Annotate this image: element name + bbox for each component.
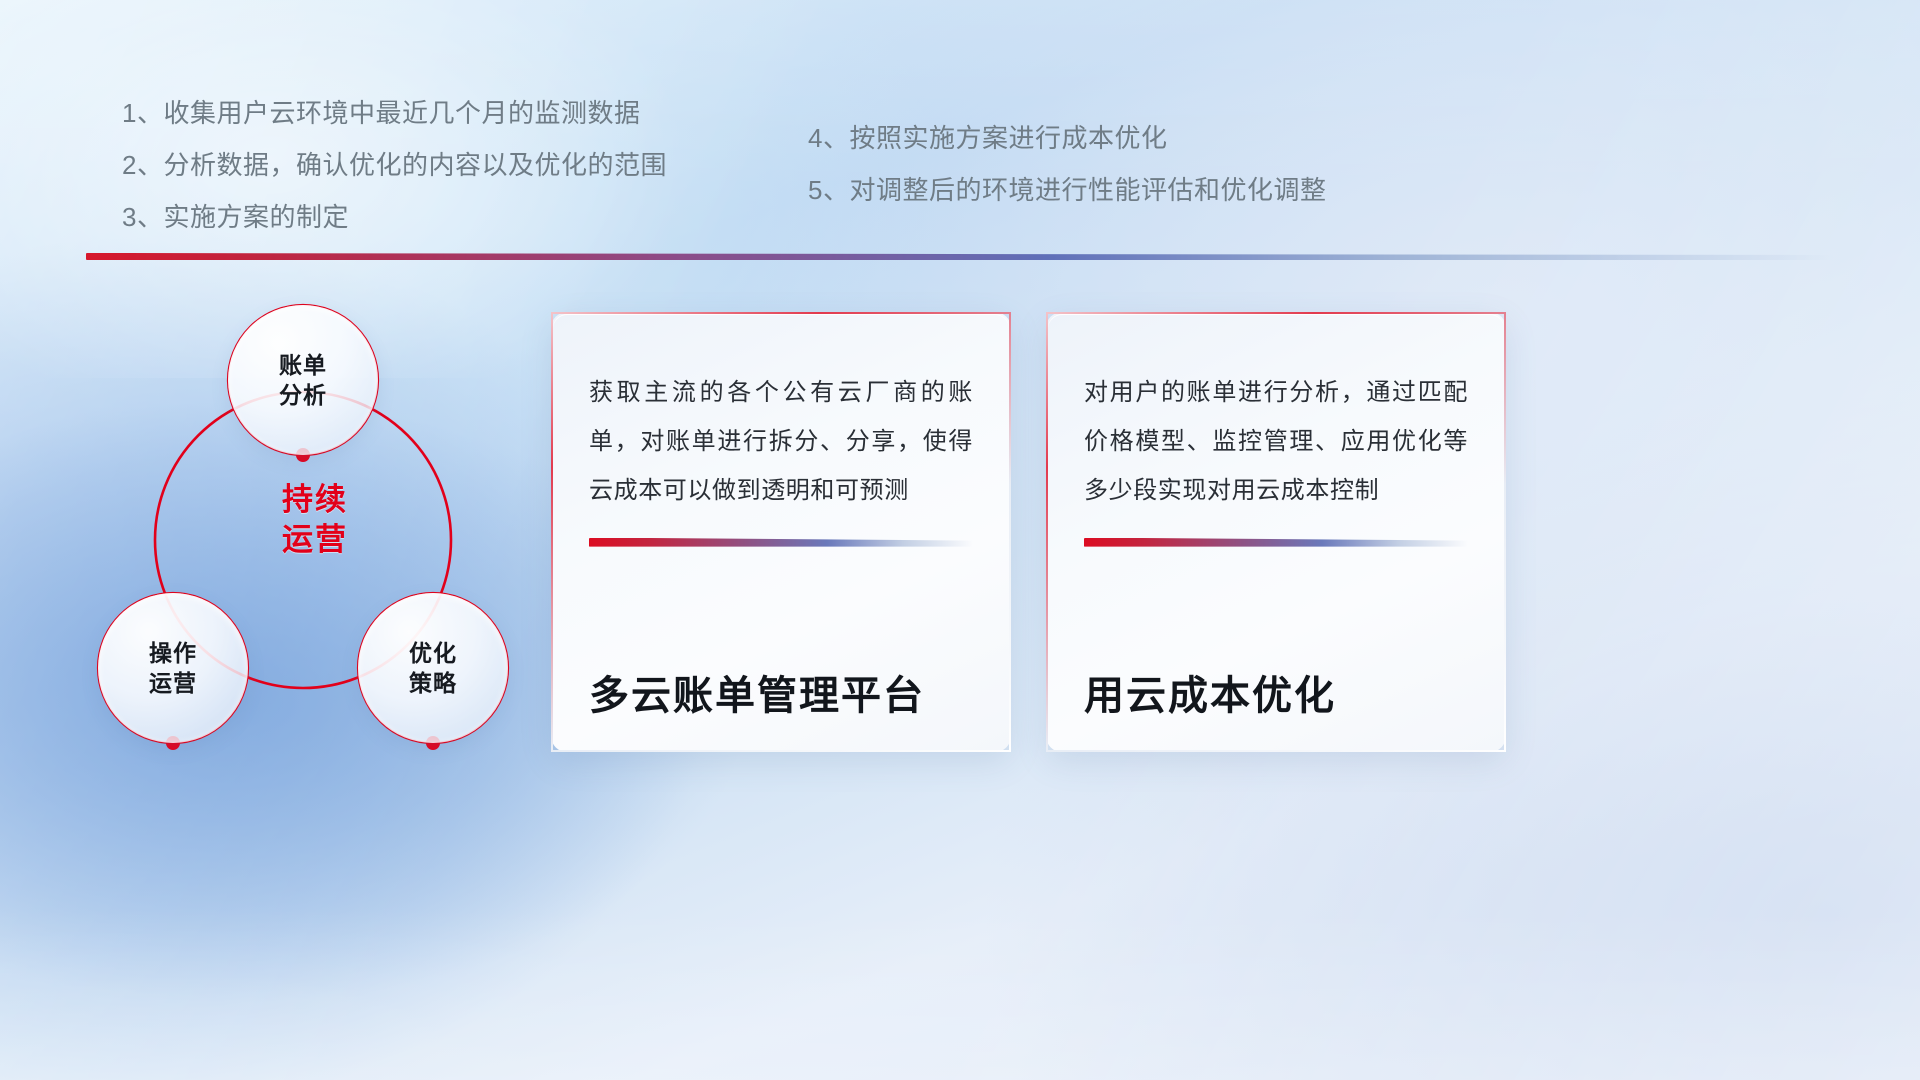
steps-list-right: 4、按照实施方案进行成本优化 5、对调整后的环境进行性能评估和优化调整: [808, 125, 1326, 229]
bubble-optimization-strategy[interactable]: 优化 策略: [358, 593, 508, 743]
card-title: 多云账单管理平台: [589, 654, 973, 720]
step-item: 4、按照实施方案进行成本优化: [808, 125, 1326, 151]
bubble-label-line1: 操作: [149, 638, 197, 668]
card-description: 对用户的账单进行分析，通过匹配价格模型、监控管理、应用优化等多少段实现对用云成本…: [1084, 368, 1468, 516]
bubble-label-line2: 运营: [149, 668, 197, 698]
feature-card-multicloud-billing[interactable]: 获取主流的各个公有云厂商的账单，对账单进行拆分、分享，使得云成本可以做到透明和可…: [551, 312, 1011, 752]
step-item: 1、收集用户云环境中最近几个月的监测数据: [122, 100, 667, 126]
step-item: 2、分析数据，确认优化的内容以及优化的范围: [122, 152, 667, 178]
card-description: 获取主流的各个公有云厂商的账单，对账单进行拆分、分享，使得云成本可以做到透明和可…: [589, 368, 973, 516]
bubble-label-line1: 优化: [409, 638, 457, 668]
continuous-operation-diagram: 账单 分析 操作 运营 优化 策略 持续 运营: [80, 285, 550, 785]
diagram-center-label: 持续 运营: [255, 480, 375, 561]
bubble-billing-analysis[interactable]: 账单 分析: [228, 305, 378, 455]
step-item: 3、实施方案的制定: [122, 204, 667, 230]
step-item: 5、对调整后的环境进行性能评估和优化调整: [808, 177, 1326, 203]
card-divider: [589, 538, 973, 547]
center-label-line1: 持续: [255, 480, 375, 520]
steps-list-left: 1、收集用户云环境中最近几个月的监测数据 2、分析数据，确认优化的内容以及优化的…: [122, 100, 667, 256]
card-title: 用云成本优化: [1084, 654, 1468, 720]
card-divider: [1084, 538, 1468, 547]
center-label-line2: 运营: [255, 520, 375, 560]
bubble-label-line1: 账单: [279, 350, 327, 380]
feature-card-cost-optimization[interactable]: 对用户的账单进行分析，通过匹配价格模型、监控管理、应用优化等多少段实现对用云成本…: [1046, 312, 1506, 752]
bubble-label-line2: 策略: [409, 668, 457, 698]
bubble-label-line2: 分析: [279, 380, 327, 410]
bubble-operations[interactable]: 操作 运营: [98, 593, 248, 743]
